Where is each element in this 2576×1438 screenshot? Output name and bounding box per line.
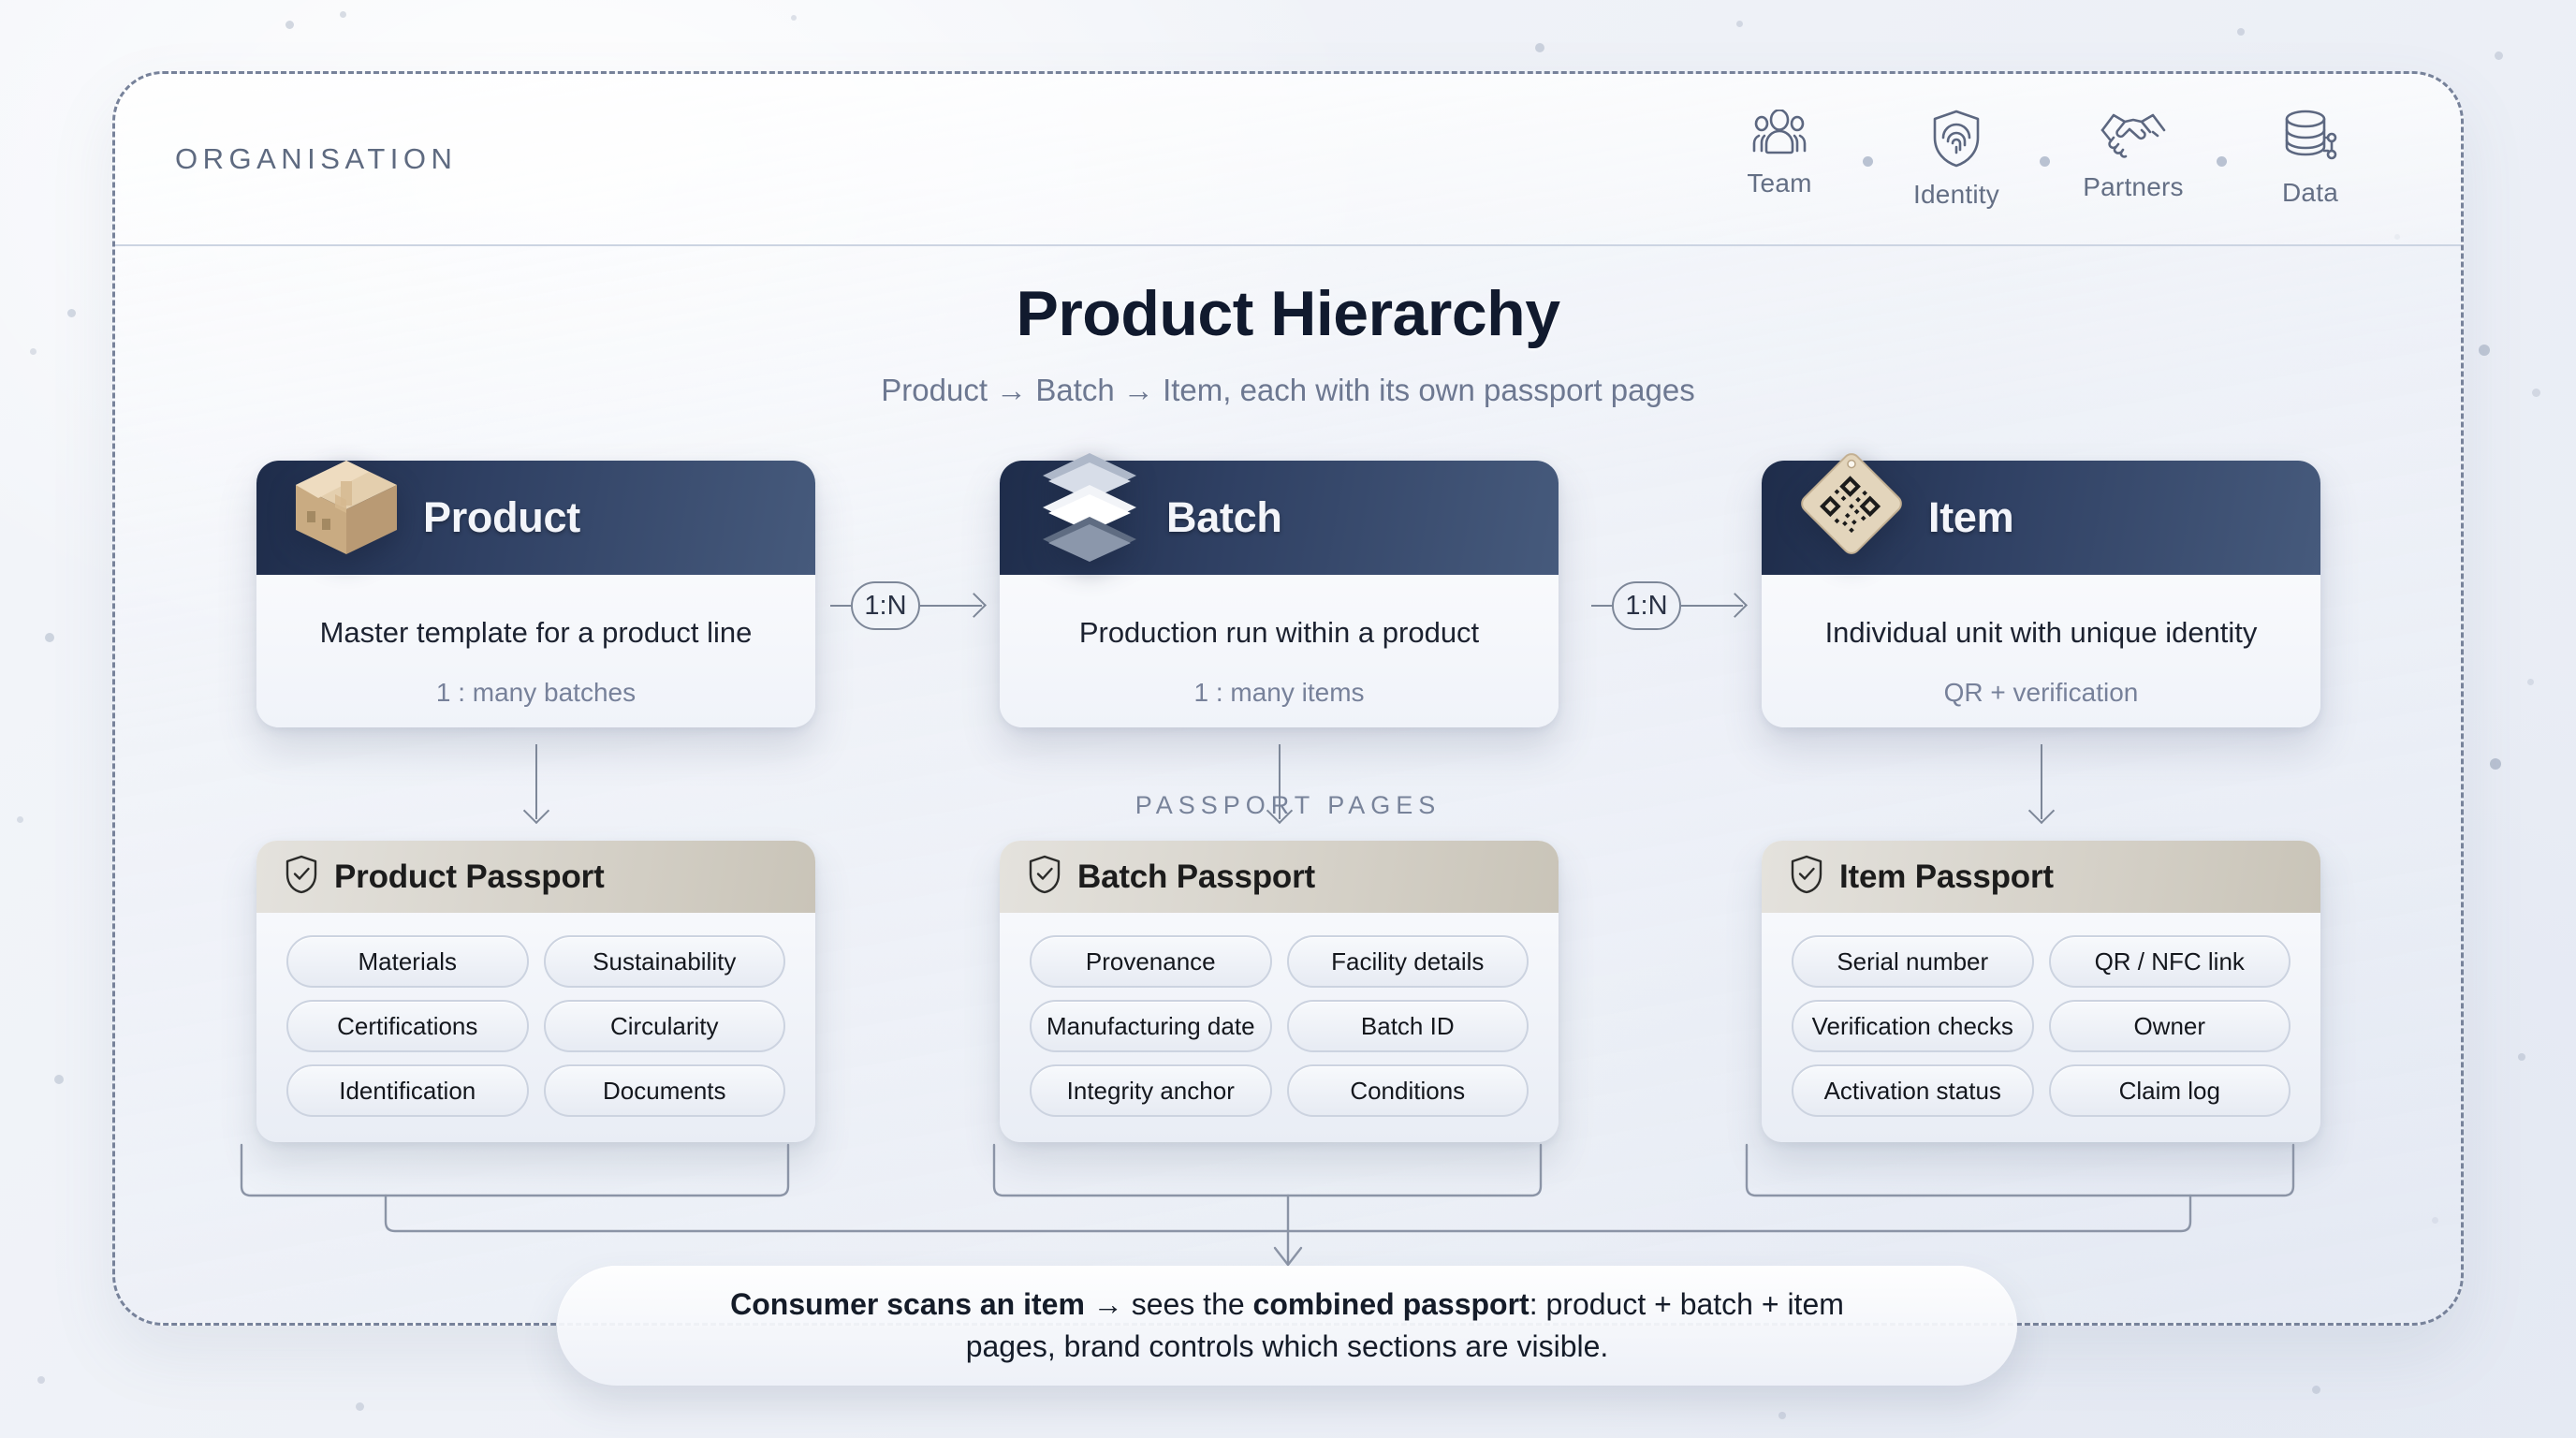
- passport-pages-label: PASSPORT PAGES: [0, 791, 2576, 820]
- decor-dot: [2518, 1053, 2525, 1061]
- decor-dot: [37, 1376, 45, 1384]
- relation-batch-item: 1:N: [1591, 573, 1743, 638]
- passport-chip[interactable]: Provenance: [1030, 935, 1272, 988]
- icon-separator-dot: [1863, 156, 1873, 167]
- entity-card-description: Master template for a product line: [256, 616, 815, 650]
- summary-mid: → sees the: [1085, 1287, 1253, 1321]
- passport-chip-grid: Serial number QR / NFC link Verification…: [1762, 913, 2320, 1117]
- entity-card-meta: QR + verification: [1762, 678, 2320, 708]
- icon-separator-dot: [2217, 156, 2227, 167]
- passport-card-header: Batch Passport: [1000, 841, 1559, 913]
- org-nav-data-label: Data: [2282, 178, 2338, 208]
- qr-tag-icon: [1782, 434, 1921, 573]
- org-nav-team[interactable]: Team: [1696, 110, 1863, 198]
- org-nav-identity-label: Identity: [1913, 180, 1999, 210]
- passport-card-title: Batch Passport: [1077, 858, 1315, 896]
- passport-chip[interactable]: Integrity anchor: [1030, 1064, 1272, 1117]
- summary-tail: : product + batch + item: [1529, 1287, 1844, 1321]
- passport-chip[interactable]: Batch ID: [1287, 1000, 1529, 1052]
- summary-bold-b: combined passport: [1253, 1287, 1529, 1321]
- passport-card-title: Product Passport: [334, 858, 605, 896]
- data-icon: [2283, 110, 2337, 166]
- decor-dot: [356, 1402, 364, 1411]
- decor-dot: [285, 21, 294, 29]
- relation-line: [830, 605, 851, 607]
- decor-dot: [45, 633, 54, 642]
- decor-dot: [1535, 43, 1544, 52]
- passport-chip[interactable]: Manufacturing date: [1030, 1000, 1272, 1052]
- passport-chip[interactable]: Identification: [286, 1064, 529, 1117]
- passport-card-title: Item Passport: [1839, 858, 2054, 896]
- passport-card-batch[interactable]: Batch Passport Provenance Facility detai…: [1000, 841, 1559, 1142]
- passport-card-product[interactable]: Product Passport Materials Sustainabilit…: [256, 841, 815, 1142]
- identity-icon: [1931, 110, 1982, 168]
- organisation-header: ORGANISATION: [115, 74, 2461, 246]
- team-icon: [1750, 110, 1808, 156]
- passport-chip[interactable]: Facility details: [1287, 935, 1529, 988]
- icon-separator-dot: [2040, 156, 2050, 167]
- org-nav-identity[interactable]: Identity: [1873, 110, 2040, 210]
- shield-check-icon: [285, 855, 318, 899]
- entity-card-item[interactable]: Item Individual unit with unique identit…: [1762, 461, 2320, 727]
- summary-bold-a: Consumer scans an item: [730, 1287, 1085, 1321]
- passport-chip[interactable]: Certifications: [286, 1000, 529, 1052]
- entity-card-title: Item: [1928, 493, 2013, 542]
- relation-badge: 1:N: [851, 581, 920, 630]
- passport-chip[interactable]: QR / NFC link: [2049, 935, 2291, 988]
- decor-dot: [2312, 1386, 2320, 1394]
- passport-chip-grid: Materials Sustainability Certifications …: [256, 913, 815, 1117]
- entity-card-header: Item: [1762, 461, 2320, 575]
- entity-card-title: Product: [423, 493, 580, 542]
- org-nav-data[interactable]: Data: [2227, 110, 2393, 208]
- decor-dot: [2237, 28, 2245, 36]
- passport-chip[interactable]: Materials: [286, 935, 529, 988]
- entity-card-description: Individual unit with unique identity: [1762, 616, 2320, 650]
- decor-dot: [340, 11, 346, 18]
- decor-dot: [2495, 51, 2503, 60]
- organisation-label: ORGANISATION: [175, 142, 457, 176]
- decor-dot: [2527, 679, 2534, 685]
- passport-chip[interactable]: Serial number: [1792, 935, 2034, 988]
- relation-product-batch: 1:N: [830, 573, 982, 638]
- entity-card-meta: 1 : many batches: [256, 678, 815, 708]
- entity-card-header: Batch: [1000, 461, 1559, 575]
- org-nav-partners-label: Partners: [2083, 172, 2183, 202]
- decor-dot: [54, 1075, 64, 1084]
- partners-icon: [2100, 110, 2166, 160]
- summary-banner-text: Consumer scans an item → sees the combin…: [730, 1284, 1844, 1369]
- passport-chip[interactable]: Circularity: [544, 1000, 786, 1052]
- relation-badge: 1:N: [1612, 581, 1681, 630]
- decor-dot: [791, 15, 797, 21]
- passport-chip[interactable]: Owner: [2049, 1000, 2291, 1052]
- relation-line: [1591, 605, 1612, 607]
- passport-chip[interactable]: Verification checks: [1792, 1000, 2034, 1052]
- passport-card-header: Item Passport: [1762, 841, 2320, 913]
- relation-arrow-icon: [1681, 605, 1743, 607]
- summary-banner: Consumer scans an item → sees the combin…: [557, 1266, 2017, 1386]
- passport-card-item[interactable]: Item Passport Serial number QR / NFC lin…: [1762, 841, 2320, 1142]
- passport-card-header: Product Passport: [256, 841, 815, 913]
- page-title: Product Hierarchy: [0, 277, 2576, 350]
- shield-check-icon: [1790, 855, 1823, 899]
- entity-card-batch[interactable]: Batch Production run within a product 1 …: [1000, 461, 1559, 727]
- decor-dot: [1736, 21, 1743, 27]
- entity-card-header: Product: [256, 461, 815, 575]
- organisation-icon-row: Team Identity: [1696, 110, 2393, 210]
- passport-chip[interactable]: Sustainability: [544, 935, 786, 988]
- entity-card-product[interactable]: Product Master template for a product li…: [256, 461, 815, 727]
- passport-chip[interactable]: Claim log: [2049, 1064, 2291, 1117]
- summary-line2: pages, brand controls which sections are…: [966, 1329, 1609, 1363]
- passport-chip[interactable]: Activation status: [1792, 1064, 2034, 1117]
- decor-dot: [2490, 758, 2501, 770]
- entity-card-description: Production run within a product: [1000, 616, 1559, 650]
- decor-dot: [1778, 1412, 1786, 1419]
- passport-chip[interactable]: Conditions: [1287, 1064, 1529, 1117]
- shield-check-icon: [1028, 855, 1061, 899]
- passport-chip[interactable]: Documents: [544, 1064, 786, 1117]
- org-nav-team-label: Team: [1747, 169, 1811, 198]
- relation-arrow-icon: [920, 605, 982, 607]
- layers-stack-icon: [1020, 434, 1159, 573]
- entity-card-title: Batch: [1166, 493, 1282, 542]
- page-subtitle: Product → Batch → Item, each with its ow…: [0, 373, 2576, 408]
- org-nav-partners[interactable]: Partners: [2050, 110, 2217, 202]
- passport-chip-grid: Provenance Facility details Manufacturin…: [1000, 913, 1559, 1117]
- package-box-icon: [277, 434, 416, 573]
- entity-card-meta: 1 : many items: [1000, 678, 1559, 708]
